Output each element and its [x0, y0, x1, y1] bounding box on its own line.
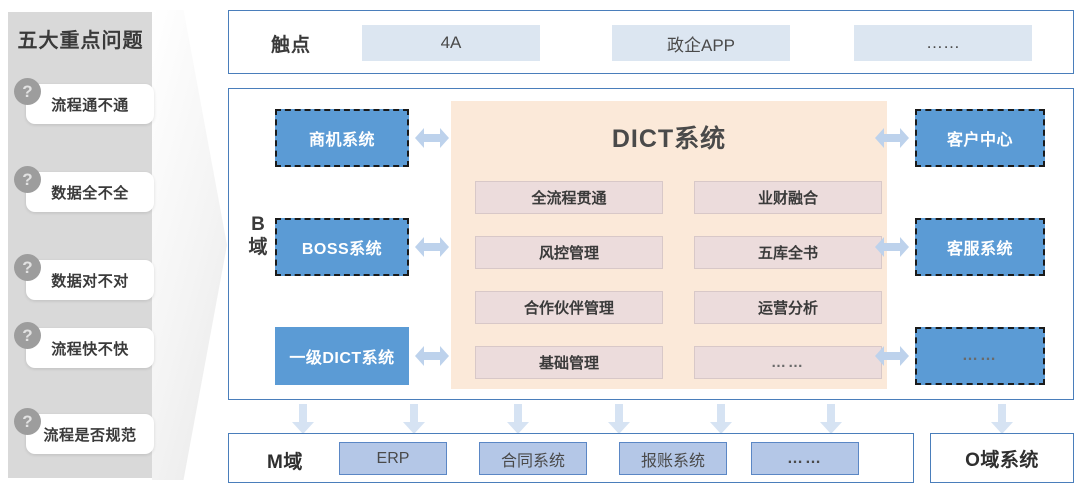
touchpoint-tile-more[interactable]: …… [854, 25, 1032, 61]
diagram-root: 五大重点问题 流程通不通 ? 数据全不全 ? 数据对不对 ? 流程快不快 ? 流… [0, 0, 1080, 490]
dict-tile-risk-control[interactable]: 风控管理 [475, 236, 663, 269]
system-box-customer-center[interactable]: 客户中心 [915, 109, 1045, 167]
issue-card[interactable]: 流程是否规范 [26, 414, 154, 454]
issue-item-4[interactable]: 流程是否规范 ? [14, 408, 154, 454]
issue-label: 数据对不对 [51, 270, 129, 291]
dict-tile-more[interactable]: …… [694, 346, 882, 379]
arrow-down-icon [820, 404, 842, 434]
m-domain-tile-contract[interactable]: 合同系统 [479, 442, 587, 475]
dict-tile-five-libraries[interactable]: 五库全书 [694, 236, 882, 269]
dict-tile-operation-analysis[interactable]: 运营分析 [694, 291, 882, 324]
dict-tile-partner-management[interactable]: 合作伙伴管理 [475, 291, 663, 324]
touchpoint-row: 触点 4A 政企APP …… [228, 10, 1074, 74]
dict-tile-basic-management[interactable]: 基础管理 [475, 346, 663, 379]
b-domain-container: B 域 商机系统 BOSS系统 一级DICT系统 DICT系统 全流程贯通 风控… [228, 88, 1074, 400]
arrow-down-icon [292, 404, 314, 434]
arrow-down-icon [991, 404, 1013, 434]
double-arrow-horizontal-icon [875, 125, 909, 151]
o-domain-box[interactable]: O域系统 [930, 433, 1074, 483]
issue-item-2[interactable]: 数据对不对 ? [14, 254, 154, 300]
dict-system-title: DICT系统 [451, 119, 887, 155]
b-domain-label-line2: 域 [241, 236, 275, 259]
issue-label: 流程快不快 [51, 338, 129, 359]
double-arrow-horizontal-icon [875, 234, 909, 260]
dict-system-panel: DICT系统 全流程贯通 风控管理 合作伙伴管理 基础管理 业财融合 五库全书 … [451, 101, 887, 389]
arrow-down-icon [710, 404, 732, 434]
issue-label: 流程是否规范 [43, 424, 136, 445]
double-arrow-horizontal-icon [415, 343, 449, 369]
dict-tile-full-process[interactable]: 全流程贯通 [475, 181, 663, 214]
m-domain-tile-more[interactable]: …… [751, 442, 859, 475]
b-domain-label-line1: B [241, 213, 275, 236]
key-issues-title: 五大重点问题 [8, 24, 153, 53]
double-arrow-horizontal-icon [415, 125, 449, 151]
touchpoint-tile-gov-app[interactable]: 政企APP [612, 25, 790, 61]
double-arrow-horizontal-icon [415, 234, 449, 260]
issue-card[interactable]: 数据全不全 [26, 172, 154, 212]
system-box-level1-dict[interactable]: 一级DICT系统 [275, 327, 409, 385]
issue-card[interactable]: 流程通不通 [26, 84, 154, 124]
m-domain-tile-erp[interactable]: ERP [339, 442, 447, 475]
issue-label: 流程通不通 [51, 94, 129, 115]
dict-tile-business-finance[interactable]: 业财融合 [694, 181, 882, 214]
double-arrow-horizontal-icon [875, 343, 909, 369]
m-domain-row: M域 ERP 合同系统 报账系统 …… [228, 433, 914, 483]
system-box-boss[interactable]: BOSS系统 [275, 218, 409, 276]
issue-item-0[interactable]: 流程通不通 ? [14, 78, 154, 124]
m-domain-label: M域 [267, 447, 303, 474]
arrow-down-icon [403, 404, 425, 434]
issue-card[interactable]: 流程快不快 [26, 328, 154, 368]
question-mark-icon: ? [14, 408, 41, 435]
issue-card[interactable]: 数据对不对 [26, 260, 154, 300]
question-mark-icon: ? [14, 322, 41, 349]
issue-label: 数据全不全 [51, 182, 129, 203]
b-domain-label: B 域 [241, 213, 275, 259]
system-box-business-opportunity[interactable]: 商机系统 [275, 109, 409, 167]
issue-item-3[interactable]: 流程快不快 ? [14, 322, 154, 368]
m-domain-tile-reimbursement[interactable]: 报账系统 [619, 442, 727, 475]
touchpoint-label: 触点 [271, 30, 311, 57]
chevron-right-shape [152, 10, 227, 480]
system-box-customer-service[interactable]: 客服系统 [915, 218, 1045, 276]
arrow-down-icon [507, 404, 529, 434]
question-mark-icon: ? [14, 254, 41, 281]
arrow-down-icon [608, 404, 630, 434]
question-mark-icon: ? [14, 166, 41, 193]
issue-item-1[interactable]: 数据全不全 ? [14, 166, 154, 212]
question-mark-icon: ? [14, 78, 41, 105]
system-box-more[interactable]: …… [915, 327, 1045, 385]
touchpoint-tile-4a[interactable]: 4A [362, 25, 540, 61]
